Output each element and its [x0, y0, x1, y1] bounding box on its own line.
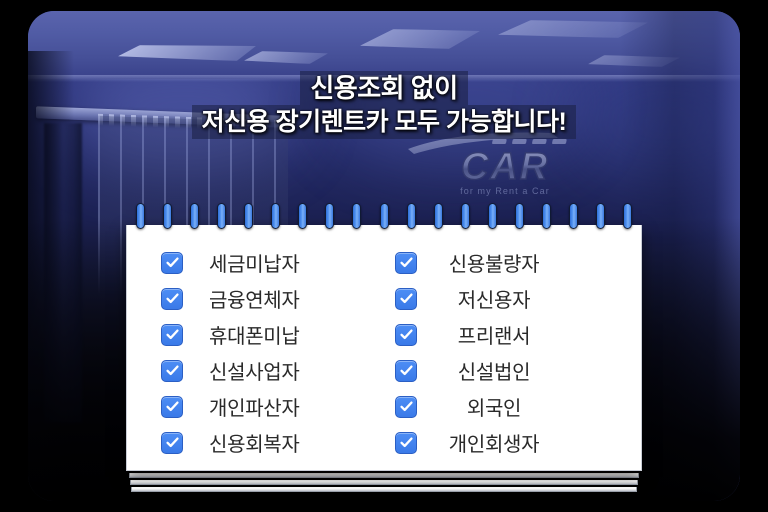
ceiling-light-panel — [244, 51, 328, 64]
checklist-item[interactable]: 금융연체자 — [161, 281, 373, 316]
promo-image: CAR for my Rent a Car 신용조회 없이 저신용 장기렌트카 … — [28, 11, 740, 501]
checkbox-checked-icon[interactable] — [395, 324, 417, 346]
notepad-sheet-edge — [130, 480, 638, 485]
checklist-notepad: 세금미납자금융연체자휴대폰미납신설사업자개인파산자신용회복자신용불량자저신용자프… — [126, 203, 642, 492]
checklist-item[interactable]: 휴대폰미납 — [161, 317, 373, 352]
checkbox-checked-icon[interactable] — [161, 360, 183, 382]
checklist-item-label: 휴대폰미납 — [209, 320, 300, 349]
checklist-item[interactable]: 프리랜서 — [395, 317, 607, 352]
checklist-item-label: 신용회복자 — [209, 428, 300, 457]
notepad-sheet-edge — [131, 487, 637, 492]
checklist-item-label: 신용불량자 — [435, 248, 553, 277]
checkbox-checked-icon[interactable] — [395, 360, 417, 382]
checkbox-checked-icon[interactable] — [395, 432, 417, 454]
checklist-item-label: 개인회생자 — [435, 428, 553, 457]
checklist-item[interactable]: 저신용자 — [395, 281, 607, 316]
headline-block: 신용조회 없이 저신용 장기렌트카 모두 가능합니다! — [28, 71, 740, 139]
checklist-column-left: 세금미납자금융연체자휴대폰미납신설사업자개인파산자신용회복자 — [161, 245, 373, 470]
notepad-sheet-stack — [126, 473, 642, 492]
notepad-page: 세금미납자금융연체자휴대폰미납신설사업자개인파산자신용회복자신용불량자저신용자프… — [126, 225, 642, 471]
headline-line-1-row: 신용조회 없이 — [28, 71, 740, 105]
checklist-item-label: 개인파산자 — [209, 392, 300, 421]
headline-line-2: 저신용 장기렌트카 모두 가능합니다! — [192, 105, 577, 139]
checklist-item[interactable]: 개인파산자 — [161, 389, 373, 424]
checklist-item-label: 신설사업자 — [209, 356, 300, 385]
checklist-item-label: 세금미납자 — [209, 248, 300, 277]
checklist-item-label: 금융연체자 — [209, 284, 300, 313]
checkbox-checked-icon[interactable] — [161, 288, 183, 310]
ceiling-light-panel — [118, 45, 256, 61]
checkbox-checked-icon[interactable] — [395, 288, 417, 310]
headline-line-2-row: 저신용 장기렌트카 모두 가능합니다! — [28, 105, 740, 139]
ceiling-light-panel — [360, 29, 480, 49]
checkbox-checked-icon[interactable] — [395, 252, 417, 274]
checklist-item[interactable]: 개인회생자 — [395, 425, 607, 460]
checklist-item-label: 저신용자 — [435, 284, 553, 313]
checklist-item[interactable]: 외국인 — [395, 389, 607, 424]
checkbox-checked-icon[interactable] — [161, 432, 183, 454]
checkbox-checked-icon[interactable] — [395, 396, 417, 418]
checklist-item-label: 프리랜서 — [435, 320, 553, 349]
checkbox-checked-icon[interactable] — [161, 324, 183, 346]
screenshot-stage: CAR for my Rent a Car 신용조회 없이 저신용 장기렌트카 … — [0, 0, 768, 512]
notepad-sheet-edge — [129, 473, 639, 478]
checklist-item-label: 외국인 — [435, 392, 553, 421]
checkbox-checked-icon[interactable] — [161, 396, 183, 418]
checklist-item[interactable]: 신설사업자 — [161, 353, 373, 388]
checkbox-checked-icon[interactable] — [161, 252, 183, 274]
notepad-spiral-binding — [126, 203, 642, 225]
headline-line-1: 신용조회 없이 — [300, 71, 467, 105]
checklist-columns: 세금미납자금융연체자휴대폰미납신설사업자개인파산자신용회복자신용불량자저신용자프… — [127, 225, 641, 470]
checklist-item-label: 신설법인 — [435, 356, 553, 385]
checklist-item[interactable]: 신용회복자 — [161, 425, 373, 460]
checklist-column-right: 신용불량자저신용자프리랜서신설법인외국인개인회생자 — [373, 245, 607, 470]
checklist-item[interactable]: 신용불량자 — [395, 245, 607, 280]
checklist-item[interactable]: 세금미납자 — [161, 245, 373, 280]
checklist-item[interactable]: 신설법인 — [395, 353, 607, 388]
